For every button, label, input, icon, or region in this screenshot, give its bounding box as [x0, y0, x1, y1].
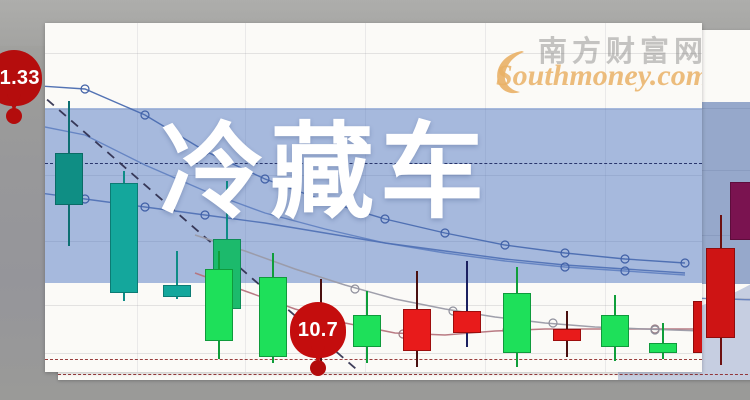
- plot-area: [45, 23, 702, 372]
- chart-panel-front[interactable]: 南方财富网 Southmoney.com: [45, 23, 702, 372]
